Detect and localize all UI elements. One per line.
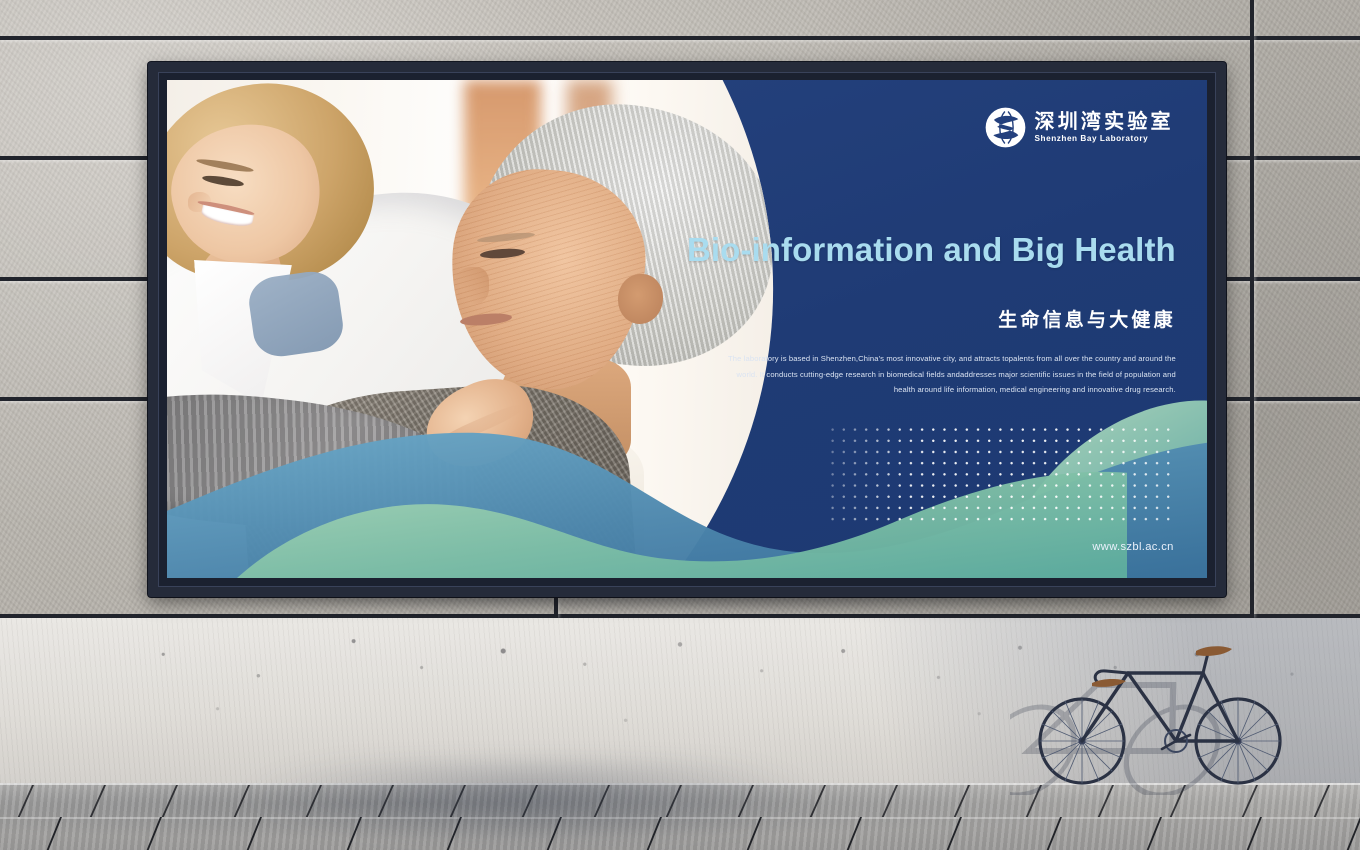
poster-title: Bio-information and Big Health xyxy=(687,231,1176,269)
bicycle-illustration xyxy=(1010,625,1310,795)
billboard-mockup-scene: 深圳湾实验室 Shenzhen Bay Laboratory Bio-infor… xyxy=(0,0,1360,850)
ground-shadow xyxy=(230,760,830,850)
halftone-dot-grid xyxy=(827,424,1170,524)
vintage-bicycle xyxy=(1010,625,1310,795)
wall-grout-line-v1 xyxy=(1250,0,1254,618)
poster: 深圳湾实验室 Shenzhen Bay Laboratory Bio-infor… xyxy=(167,80,1207,578)
logo-name-cn: 深圳湾实验室 xyxy=(1035,112,1174,133)
logo-name-en: Shenzhen Bay Laboratory xyxy=(1035,135,1174,144)
logo-text: 深圳湾实验室 Shenzhen Bay Laboratory xyxy=(1035,112,1174,143)
poster-subtitle: 生命信息与大健康 xyxy=(998,305,1176,332)
wall-grout-line-h1 xyxy=(0,36,1360,40)
poster-logo: 深圳湾实验室 Shenzhen Bay Laboratory xyxy=(985,107,1174,148)
bicycle-saddle xyxy=(1196,646,1232,656)
poster-body-copy: The laboratory is based in Shenzhen,Chin… xyxy=(723,351,1175,397)
shenzhen-bay-laboratory-emblem-icon xyxy=(985,107,1026,148)
billboard[interactable]: 深圳湾实验室 Shenzhen Bay Laboratory Bio-infor… xyxy=(148,62,1226,597)
poster-url[interactable]: www.szbl.ac.cn xyxy=(1092,541,1173,553)
